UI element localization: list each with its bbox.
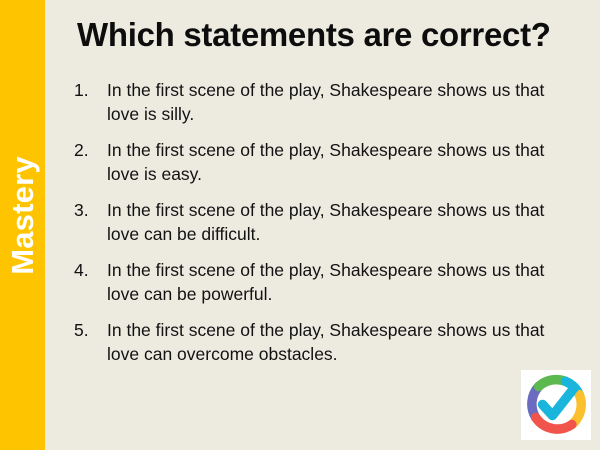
list-item-number: 4. xyxy=(74,258,100,282)
page-title: Which statements are correct? xyxy=(77,16,582,54)
list-item: 3. In the first scene of the play, Shake… xyxy=(72,198,562,246)
list-item-text: In the first scene of the play, Shakespe… xyxy=(107,78,562,126)
list-item: 2. In the first scene of the play, Shake… xyxy=(72,138,562,186)
list-item-text: In the first scene of the play, Shakespe… xyxy=(107,258,562,306)
list-item: 1. In the first scene of the play, Shake… xyxy=(72,78,562,126)
list-item-text: In the first scene of the play, Shakespe… xyxy=(107,318,562,366)
list-item: 5. In the first scene of the play, Shake… xyxy=(72,318,562,366)
statement-list: 1. In the first scene of the play, Shake… xyxy=(72,78,562,378)
list-item-number: 5. xyxy=(74,318,100,342)
list-item-number: 1. xyxy=(74,78,100,102)
list-item: 4. In the first scene of the play, Shake… xyxy=(72,258,562,306)
check-icon xyxy=(543,388,575,416)
checkmark-ring-logo-icon xyxy=(521,370,591,440)
logo-tile xyxy=(521,370,591,440)
slide-canvas: Mastery Which statements are correct? 1.… xyxy=(0,0,600,450)
list-item-text: In the first scene of the play, Shakespe… xyxy=(107,138,562,186)
sidebar-section-label: Mastery xyxy=(7,156,38,275)
sidebar-band: Mastery xyxy=(0,0,45,450)
sidebar-label-wrapper: Mastery xyxy=(0,0,45,450)
list-item-number: 2. xyxy=(74,138,100,162)
list-item-text: In the first scene of the play, Shakespe… xyxy=(107,198,562,246)
list-item-number: 3. xyxy=(74,198,100,222)
